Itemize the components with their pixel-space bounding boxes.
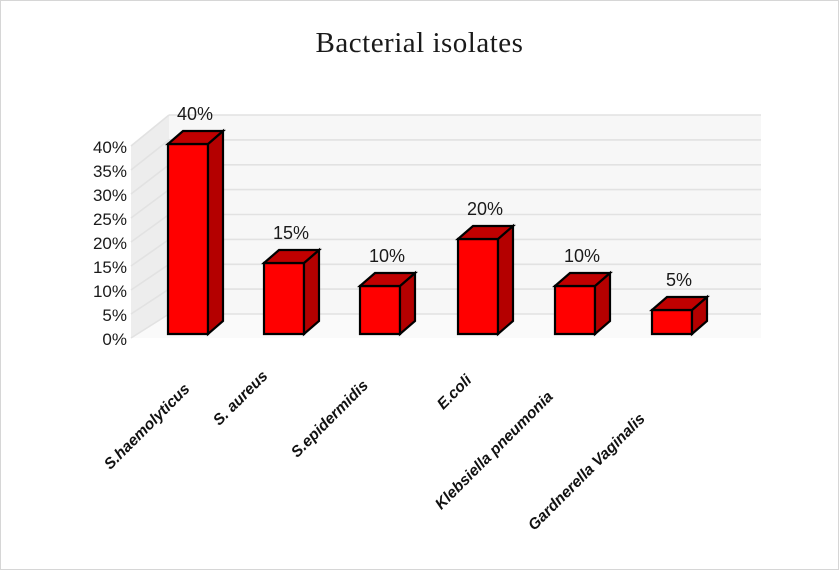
bar-column	[264, 250, 319, 334]
bar-column	[168, 131, 223, 334]
bar-column	[458, 226, 513, 334]
chart-page: Bacterial isolates	[0, 0, 839, 570]
bar-value-label: 20%	[467, 199, 503, 220]
y-tick-label: 0%	[63, 331, 127, 348]
y-tick-label: 35%	[63, 163, 127, 180]
y-tick-label: 25%	[63, 211, 127, 228]
bar-column	[652, 297, 707, 334]
bar-value-label: 10%	[369, 246, 405, 267]
bar-value-label: 5%	[666, 270, 692, 291]
y-tick-label: 40%	[63, 139, 127, 156]
bar-column	[555, 273, 610, 334]
bar-column	[360, 273, 415, 334]
bar-value-label: 10%	[564, 246, 600, 267]
bar-value-label: 40%	[177, 104, 213, 125]
y-tick-label: 30%	[63, 187, 127, 204]
y-tick-label: 15%	[63, 259, 127, 276]
bar-value-label: 15%	[273, 223, 309, 244]
y-tick-label: 5%	[63, 307, 127, 324]
y-tick-label: 20%	[63, 235, 127, 252]
y-tick-label: 10%	[63, 283, 127, 300]
y-axis: 40% 35% 30% 25% 20% 15% 10% 5% 0%	[63, 1, 127, 570]
